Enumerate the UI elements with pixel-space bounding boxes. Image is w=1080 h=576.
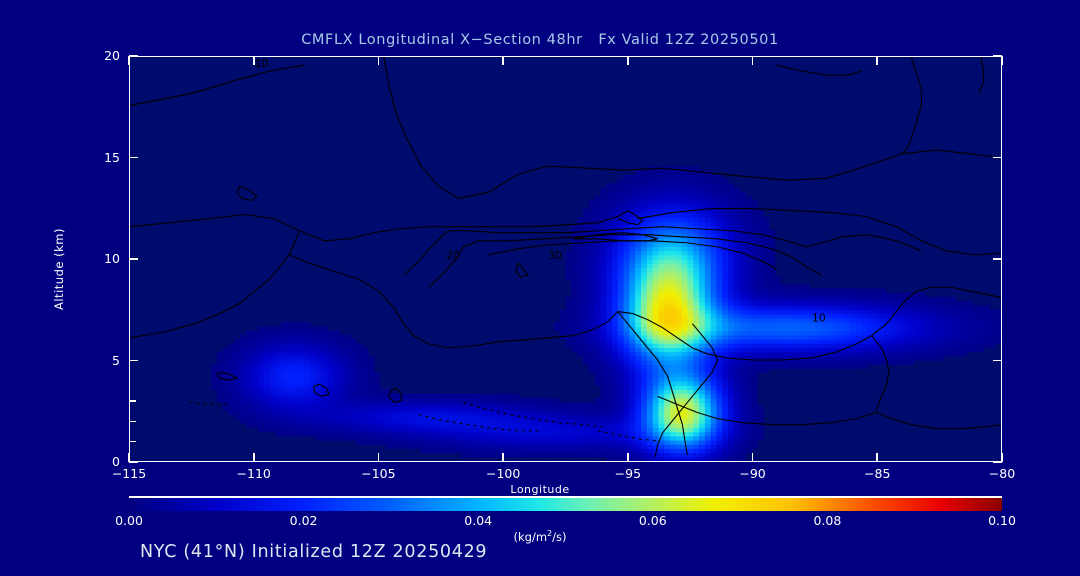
- x-axis-tick: [876, 453, 878, 462]
- svg-text:10: 10: [812, 312, 826, 325]
- colorbar-tick-label: 0.10: [967, 513, 1037, 528]
- colorbar-units-tail: /s): [552, 530, 566, 544]
- y-axis-tick: [129, 461, 138, 463]
- colorbar: [129, 496, 1002, 511]
- wind-speed-contour-overlay: 20301010: [130, 57, 1001, 461]
- y-axis-tick-label: 20: [80, 48, 120, 63]
- colorbar-tick-label: 0.06: [618, 513, 688, 528]
- y-axis-tick-label: 15: [80, 150, 120, 165]
- y-axis-tick: [129, 360, 138, 362]
- colorbar-gradient: [129, 496, 1002, 511]
- colorbar-tick-label: 0.08: [792, 513, 862, 528]
- y-axis-minor-tick: [129, 421, 136, 423]
- svg-text:30: 30: [548, 249, 562, 262]
- x-axis-tick-top: [378, 56, 380, 65]
- x-axis-title: Longitude: [0, 483, 1080, 496]
- x-axis-tick-label: −95: [598, 466, 658, 481]
- footer-caption: NYC (41°N) Initialized 12Z 20250429: [140, 542, 487, 562]
- y-axis-minor-tick: [129, 441, 136, 443]
- x-axis-tick-label: −115: [99, 466, 159, 481]
- y-axis-tick-right: [993, 258, 1002, 260]
- y-axis-tick: [129, 157, 138, 159]
- y-axis-minor-tick: [129, 400, 136, 402]
- x-axis-tick: [378, 453, 380, 462]
- colorbar-tick-label: 0.00: [94, 513, 164, 528]
- x-axis-tick: [253, 453, 255, 462]
- y-axis-tick-label: 10: [80, 251, 120, 266]
- svg-text:20: 20: [446, 249, 460, 262]
- page-title: CMFLX Longitudinal X−Section 48hr Fx Val…: [0, 32, 1080, 48]
- x-axis-tick: [1001, 453, 1003, 462]
- y-axis-tick: [129, 55, 138, 57]
- x-axis-tick: [752, 453, 754, 462]
- x-axis-tick-label: −105: [348, 466, 408, 481]
- figure-root: CMFLX Longitudinal X−Section 48hr Fx Val…: [0, 0, 1080, 576]
- y-axis-tick-label: 5: [80, 353, 120, 368]
- y-axis-title: Altitude (km): [52, 228, 66, 310]
- x-axis-tick: [128, 453, 130, 462]
- x-axis-tick-label: −90: [723, 466, 783, 481]
- colorbar-units-text: (kg/m: [514, 530, 548, 544]
- x-axis-tick-top: [627, 56, 629, 65]
- x-axis-tick-label: −80: [972, 466, 1032, 481]
- x-axis-tick-top: [1001, 56, 1003, 65]
- x-axis-tick-top: [752, 56, 754, 65]
- x-axis-tick-label: −110: [224, 466, 284, 481]
- colorbar-tick-label: 0.04: [443, 513, 513, 528]
- colorbar-tick-label: 0.02: [269, 513, 339, 528]
- x-axis-tick-top: [128, 56, 130, 65]
- x-axis-tick-label: −100: [473, 466, 533, 481]
- y-axis-tick: [129, 258, 138, 260]
- x-axis-tick-top: [253, 56, 255, 65]
- y-axis-tick-right: [993, 157, 1002, 159]
- svg-text:10: 10: [254, 57, 268, 70]
- x-axis-tick: [502, 453, 504, 462]
- x-axis-tick-label: −85: [847, 466, 907, 481]
- plot-frame: 20301010: [129, 56, 1002, 462]
- x-axis-tick: [627, 453, 629, 462]
- y-axis-tick-right: [993, 360, 1002, 362]
- x-axis-tick-top: [876, 56, 878, 65]
- x-axis-tick-top: [502, 56, 504, 65]
